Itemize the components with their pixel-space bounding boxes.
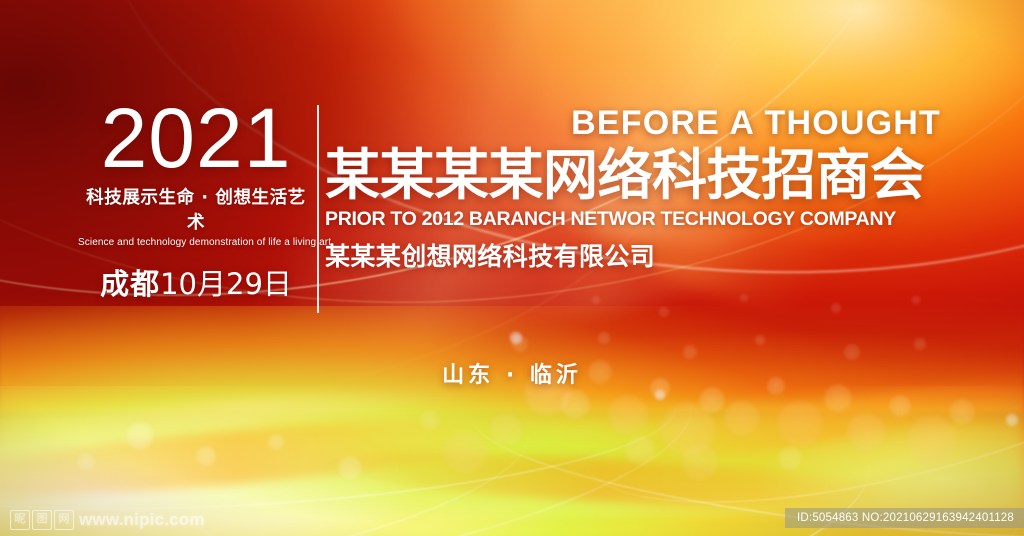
vertical-divider (317, 105, 319, 313)
city-date-line: 成都10月29日 (78, 261, 314, 303)
left-info-block: 2021 科技展示生命 · 创想生活艺术 Science and technol… (78, 100, 314, 303)
watermark: 昵 图 网 www.nipic.com (10, 510, 205, 530)
watermark-url: www.nipic.com (79, 510, 205, 530)
main-headline-chinese: 某某某某网络科技招商会 (325, 146, 941, 205)
slogan-english: Science and technology demonstration of … (78, 237, 314, 248)
logo-char-1: 昵 (10, 510, 30, 530)
stock-id-tag: ID:5054863 NO:20210629163942401128 (785, 508, 1024, 528)
right-title-block: BEFORE A THOUGHT 某某某某网络科技招商会 PRIOR TO 20… (325, 106, 941, 273)
location-label: 山东 · 临沂 (0, 357, 1024, 389)
subtitle-english: PRIOR TO 2012 BARANCH NETWOR TECHNOLOGY … (325, 208, 941, 231)
city-label: 成都 (100, 267, 160, 301)
date-label: 10月29日 (160, 267, 292, 301)
banner-content: 2021 科技展示生命 · 创想生活艺术 Science and technol… (0, 0, 1024, 536)
company-name-chinese: 某某某创想网络科技有限公司 (325, 237, 941, 273)
logo-char-3: 网 (54, 510, 74, 530)
year-label: 2021 (78, 100, 314, 177)
slogan-chinese: 科技展示生命 · 创想生活艺术 (78, 184, 314, 234)
nipic-logo-icon: 昵 图 网 (10, 510, 74, 530)
event-banner: 2021 科技展示生命 · 创想生活艺术 Science and technol… (0, 0, 1024, 536)
eyebrow-english-title: BEFORE A THOUGHT (325, 106, 941, 142)
logo-char-2: 图 (32, 510, 52, 530)
